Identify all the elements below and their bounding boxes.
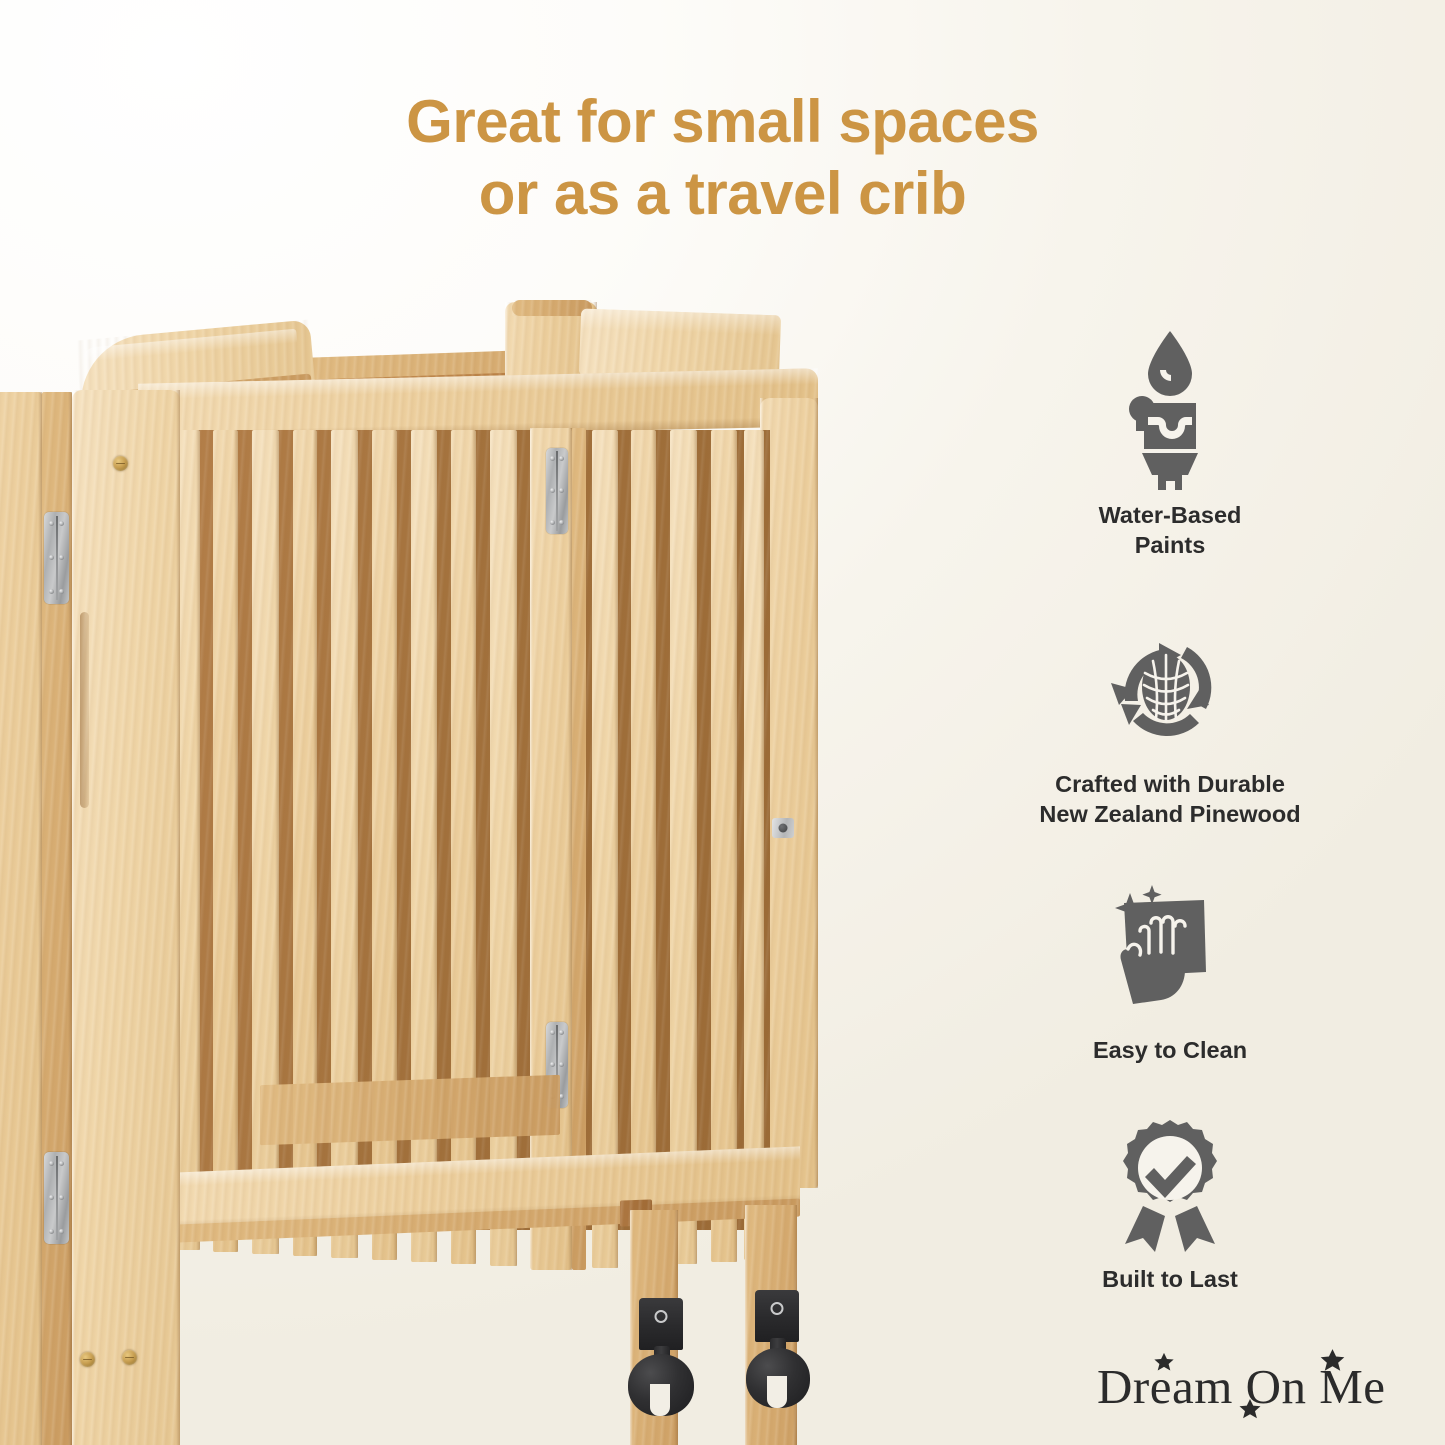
crib-lock-plate — [772, 818, 794, 838]
feature-label: Water-Based Paints — [960, 501, 1380, 561]
feature-item-water-based-paints: Water-Based Paints — [960, 325, 1380, 561]
crib-screw — [113, 456, 128, 471]
product-image-folding-crib — [0, 280, 860, 1445]
crib-screw — [80, 1352, 95, 1367]
feature-item-built-to-last: Built to Last — [960, 1118, 1380, 1295]
product-marketing-canvas: Great for small spaces or as a travel cr… — [0, 0, 1445, 1445]
caster-bracket — [639, 1298, 683, 1350]
feature-label: Built to Last — [960, 1265, 1380, 1295]
feature-item-easy-to-clean: Easy to Clean — [960, 885, 1380, 1066]
brand-logo: Dream On Me — [1097, 1352, 1415, 1430]
caster-wheel — [628, 1354, 694, 1416]
feature-item-new-zealand-pinewood: Crafted with Durable New Zealand Pinewoo… — [960, 619, 1380, 830]
crib-hinge-left-upper — [44, 512, 69, 604]
star-icon — [1238, 1398, 1262, 1422]
feature-label: Crafted with Durable New Zealand Pinewoo… — [960, 770, 1380, 830]
page-title: Great for small spaces or as a travel cr… — [0, 86, 1445, 230]
feature-list: Water-Based Paints — [960, 325, 1380, 1295]
hand-wiping-cloth-sparkle-icon — [1100, 885, 1240, 1025]
crib-screw — [122, 1350, 137, 1365]
star-icon — [1153, 1352, 1175, 1374]
crib-hinge-top — [546, 448, 568, 534]
recycle-pinecone-icon — [1095, 619, 1245, 759]
caster-bracket — [755, 1290, 799, 1342]
paintbrush-water-drop-icon — [1110, 325, 1230, 490]
star-icon — [1319, 1348, 1346, 1375]
feature-label: Easy to Clean — [960, 1036, 1380, 1066]
crib-hinge-left-lower — [44, 1152, 69, 1244]
award-ribbon-check-icon — [1105, 1118, 1235, 1254]
caster-wheel — [746, 1348, 810, 1408]
